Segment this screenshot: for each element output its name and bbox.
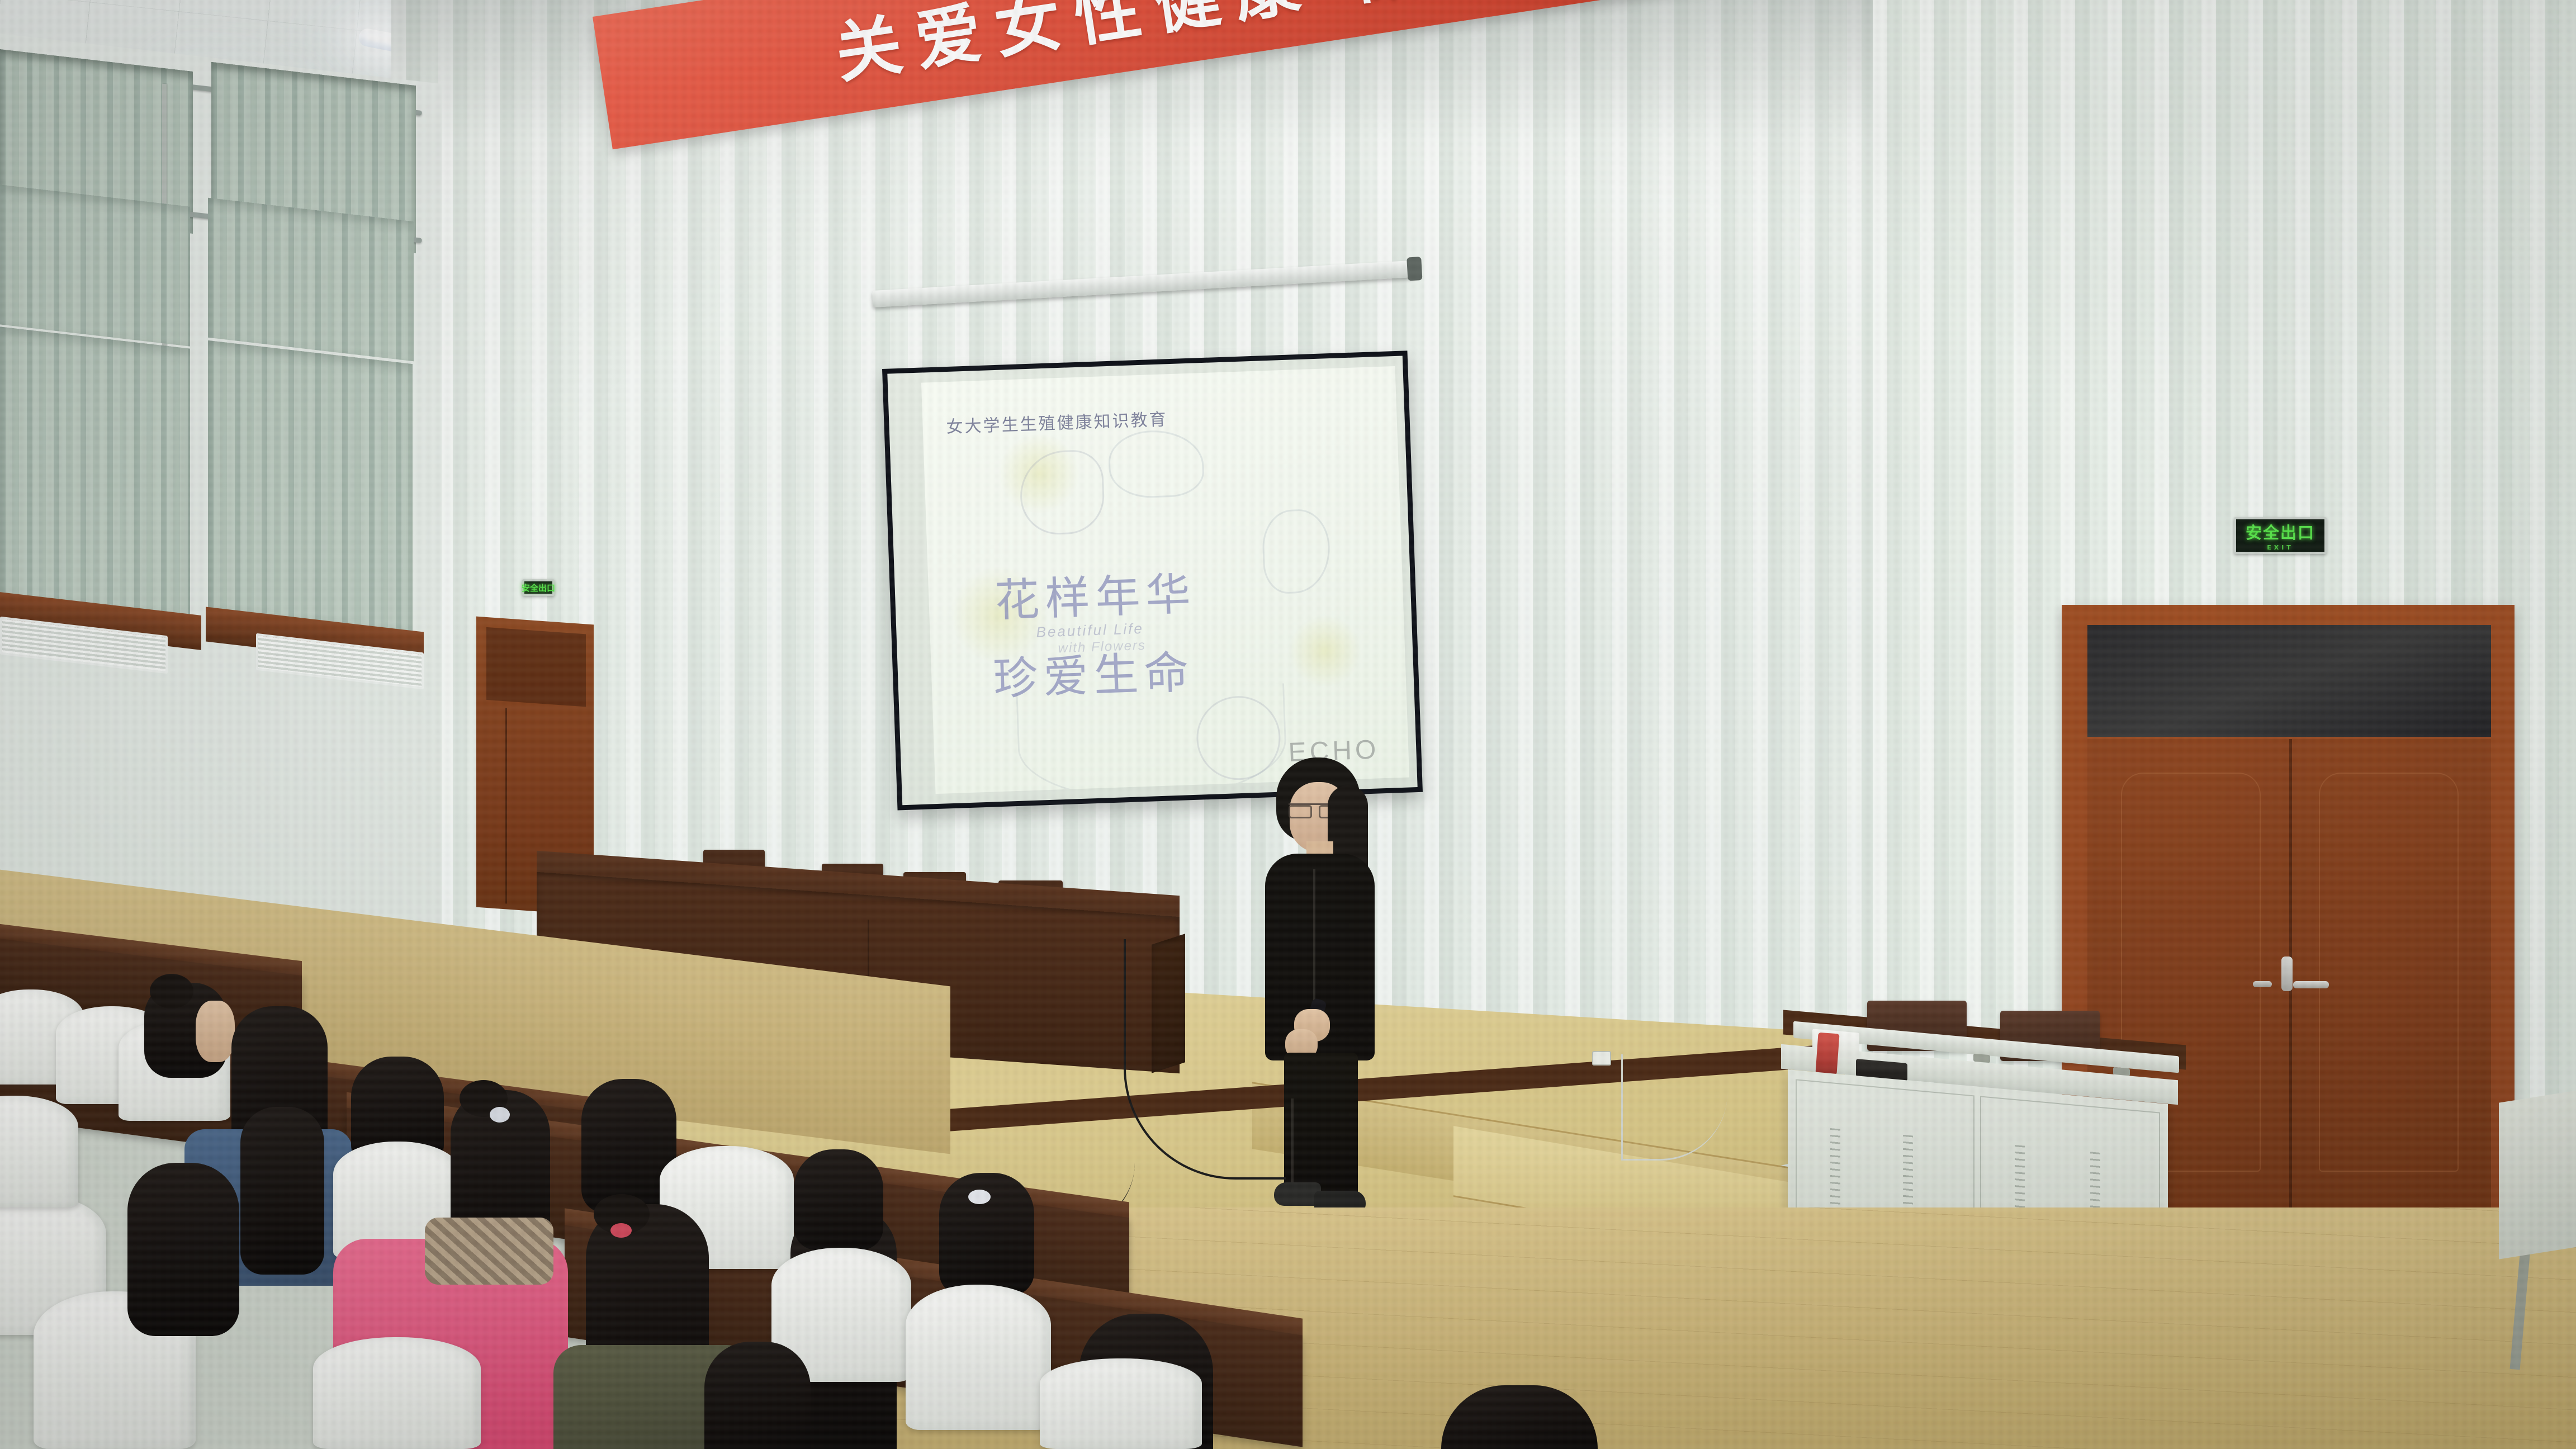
- door-lever-left[interactable]: [2253, 981, 2272, 987]
- exit-sign-right: 安全出口 EXIT: [2234, 517, 2327, 554]
- audience-chair-cover[interactable]: [0, 1096, 78, 1207]
- exit-sign-left-label: 安全出口: [522, 582, 555, 594]
- slide-swirl-decor: [1107, 429, 1205, 499]
- speaker-legs: [1284, 1053, 1358, 1198]
- audience-person-head: [240, 1107, 324, 1275]
- curtain-lower-right[interactable]: [208, 198, 414, 362]
- audience-person-bun: [150, 974, 193, 1008]
- exit-sign-left: 安全出口: [522, 579, 555, 596]
- wall-power-outlet[interactable]: [1592, 1051, 1611, 1066]
- slide-title-line2: 珍爱生命: [992, 636, 1195, 708]
- audience-person-face: [196, 1001, 235, 1062]
- audience-person-collar: [425, 1218, 553, 1285]
- speaker-leg-seam: [1291, 1098, 1294, 1194]
- slide-blossom-decor: [1287, 613, 1362, 688]
- curtain-tall-left[interactable]: [0, 326, 190, 617]
- door-handle[interactable]: [2281, 956, 2293, 991]
- slide-title-line1: 花样年华: [993, 558, 1197, 629]
- exit-sign-right-sublabel: EXIT: [2267, 544, 2294, 551]
- projector-screen: 女大学生生殖健康知识教育 花样年华 Beautiful Life with Fl…: [882, 351, 1423, 810]
- door-lever-right[interactable]: [2293, 981, 2329, 988]
- presentation-slide: 女大学生生殖健康知识教育 花样年华 Beautiful Life with Fl…: [921, 366, 1409, 794]
- screen-roller-cap: [1407, 257, 1422, 281]
- curtain-lower-left[interactable]: [0, 184, 190, 346]
- far-right-table: [2499, 1088, 2576, 1259]
- audience-person-head: [127, 1163, 239, 1336]
- audience-chair-cover[interactable]: [906, 1285, 1051, 1430]
- door-transom-window: [2087, 625, 2491, 737]
- audience-chair-cover[interactable]: [1040, 1358, 1202, 1449]
- hair-tie-red: [610, 1223, 632, 1238]
- hair-clip: [968, 1190, 991, 1204]
- photograph-lecture-hall: 关爱女性健康 做阳光女大学生 女大学生生殖健康知识教育 花样年华 Beautif…: [0, 0, 2576, 1449]
- exit-sign-right-label: 安全出口: [2246, 520, 2315, 543]
- projector-screen-surface: 女大学生生殖健康知识教育 花样年华 Beautiful Life with Fl…: [887, 356, 1417, 806]
- side-door-transom: [486, 627, 586, 707]
- audience-chair-cover[interactable]: [313, 1337, 481, 1449]
- slide-swirl-decor: [1261, 508, 1331, 594]
- curtain-tall-right[interactable]: [208, 340, 413, 631]
- hair-clip: [490, 1107, 510, 1123]
- red-beverage-can[interactable]: [1815, 1033, 1839, 1075]
- door-panel-right: [2319, 773, 2459, 1172]
- audience-person-head: [794, 1149, 883, 1250]
- audience-person-head: [704, 1342, 811, 1449]
